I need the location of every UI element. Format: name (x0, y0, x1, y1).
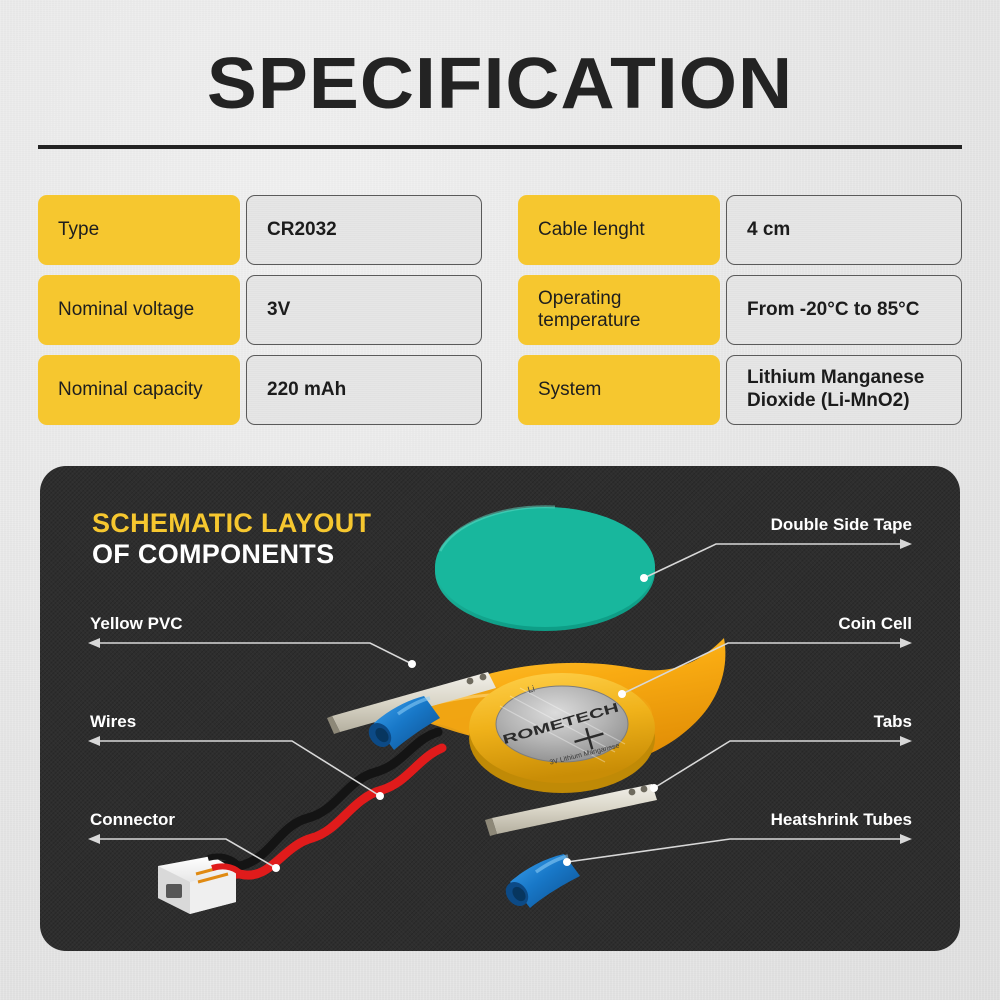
spec-value-nominal-capacity: 220 mAh (246, 355, 482, 425)
spec-row-nominal-voltage: Nominal voltage 3V (38, 275, 482, 345)
spec-row-operating-temperature: Operating temperature From -20°C to 85°C (518, 275, 962, 345)
double-side-tape (435, 507, 655, 631)
schematic-heading-line1: SCHEMATIC LAYOUT (92, 508, 371, 539)
callout-yellow-pvc: Yellow PVC (90, 614, 183, 634)
spec-row-nominal-capacity: Nominal capacity 220 mAh (38, 355, 482, 425)
yellow-pvc-sleeve (394, 638, 725, 770)
tab-strip-upper (327, 672, 496, 734)
spec-row-cable-length: Cable lenght 4 cm (518, 195, 962, 265)
spec-label-system: System (518, 355, 720, 425)
spec-row-type: Type CR2032 (38, 195, 482, 265)
heatshrink-tube-upper (364, 696, 440, 751)
callout-heatshrink-tubes: Heatshrink Tubes (771, 810, 912, 830)
twisted-wire-pair (200, 732, 442, 878)
callout-connector: Connector (90, 810, 175, 830)
spec-value-nominal-voltage: 3V (246, 275, 482, 345)
callout-double-side-tape: Double Side Tape (771, 515, 912, 535)
jst-connector (158, 856, 242, 914)
spec-label-type: Type (38, 195, 240, 265)
svg-text:ROMETECH: ROMETECH (501, 700, 621, 747)
schematic-heading: SCHEMATIC LAYOUT OF COMPONENTS (92, 508, 371, 570)
spec-value-cable-length: 4 cm (726, 195, 962, 265)
schematic-heading-line2: OF COMPONENTS (92, 539, 371, 570)
schematic-layout-panel: SCHEMATIC LAYOUT OF COMPONENTS (40, 466, 960, 951)
title-divider (38, 145, 962, 149)
spec-value-type: CR2032 (246, 195, 482, 265)
page-title: SPECIFICATION (0, 48, 1000, 120)
coin-cell: ROMETECH 3V Lithium Manganese Li (469, 673, 655, 793)
spec-row-system: System Lithium Manganese Dioxide (Li-MnO… (518, 355, 962, 425)
callout-coin-cell: Coin Cell (838, 614, 912, 634)
tab-strip-lower (485, 784, 657, 836)
spec-label-nominal-voltage: Nominal voltage (38, 275, 240, 345)
callout-wires: Wires (90, 712, 136, 732)
callout-tabs: Tabs (874, 712, 912, 732)
spec-value-operating-temperature: From -20°C to 85°C (726, 275, 962, 345)
svg-text:Li: Li (526, 683, 536, 695)
spec-label-operating-temperature: Operating temperature (518, 275, 720, 345)
specification-table: Type CR2032 Cable lenght 4 cm Nominal vo… (38, 195, 962, 425)
spec-value-system: Lithium Manganese Dioxide (Li-MnO2) (726, 355, 962, 425)
heatshrink-tube-lower (501, 854, 580, 910)
spec-label-nominal-capacity: Nominal capacity (38, 355, 240, 425)
svg-text:3V Lithium Manganese: 3V Lithium Manganese (549, 742, 620, 766)
spec-label-cable-length: Cable lenght (518, 195, 720, 265)
